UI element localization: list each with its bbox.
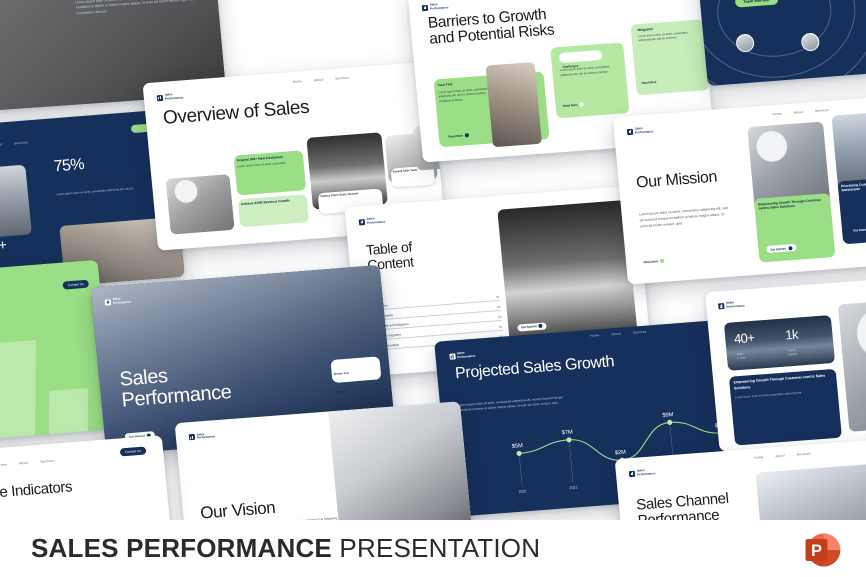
powerpoint-icon-letter: P <box>811 542 822 560</box>
nav-item-about[interactable]: About <box>794 110 804 115</box>
stat-value-1: 40+ <box>733 329 755 345</box>
svg-text:$7M: $7M <box>562 430 574 437</box>
nav-item-services[interactable]: Services <box>633 329 647 334</box>
chart-title: Projected Sales Growth <box>455 355 615 384</box>
card-label: Reduce Churn Every Channel <box>320 191 379 199</box>
stat-sub-1: Sales in Year <box>736 351 745 361</box>
read-more-label: Read More <box>448 133 463 138</box>
read-more-3[interactable]: Read More <box>641 70 657 89</box>
nav-item-about[interactable]: About <box>19 461 29 466</box>
caption-bar: SALES PERFORMANCE PRESENTATION P <box>0 520 866 577</box>
stats-photo-right <box>838 294 866 432</box>
card-body: Lorem ipsum dolor sit amet, consectetur … <box>638 30 691 43</box>
logo-text: SalesPerformance <box>457 351 476 360</box>
logo-mark-icon <box>422 4 429 10</box>
nav-item-home[interactable]: Home <box>754 455 764 460</box>
stat-value-2: 1k <box>785 326 799 342</box>
logo-text: SalesPerformance <box>726 301 745 310</box>
page-title: Sales Performance <box>119 361 233 411</box>
read-more-label: Read More <box>643 259 658 264</box>
slide-nav[interactable]: Home About Services <box>754 451 811 459</box>
page-title: Our Vision <box>200 499 277 520</box>
logo-text: SalesPerformance <box>112 296 131 305</box>
overview-photo-1 <box>166 174 234 234</box>
logo-mark-icon <box>157 94 164 100</box>
slide-our-vision[interactable]: SalesPerformance Our Vision ... leader i… <box>175 401 476 520</box>
caption-light: PRESENTATION <box>339 533 540 563</box>
brand-logo: SalesPerformance <box>359 216 386 225</box>
arrow-dot-icon <box>788 246 792 250</box>
vision-photo <box>328 401 475 520</box>
nav-item-about[interactable]: About <box>611 331 621 336</box>
card-body: Lorem ipsum dolor sit amet, consectetur … <box>438 86 493 104</box>
logo-mark-icon <box>359 219 366 225</box>
card-label: Prioritizing Customer Needs And Satisfac… <box>841 179 866 193</box>
logo-mark-icon <box>189 434 196 440</box>
arrow-dot-icon <box>538 324 542 328</box>
logo-text: SalesPerformance <box>635 126 654 135</box>
toc-number: 04 <box>499 325 503 329</box>
mission-statement-card[interactable]: Empowering Growth Through Customer-centr… <box>729 369 842 446</box>
read-more-label: Read More <box>641 80 656 85</box>
stat-body-1: Lorem ipsum dolor sit amet, consectetur … <box>56 185 150 197</box>
overview-card-1[interactable]: Acquire 500+ New Customers Lorem ipsum d… <box>233 150 306 195</box>
mission-card-green[interactable]: Empowering Growth Through Customer-centr… <box>754 194 835 263</box>
nav-item-services[interactable]: Services <box>797 451 811 456</box>
read-more-2[interactable]: Read More <box>562 93 584 112</box>
brand-logo: SalesPerformance <box>449 351 476 360</box>
logo-mark-icon <box>105 299 112 305</box>
nav-item-home[interactable]: Home <box>772 111 782 116</box>
stat-value-2: 25+ <box>0 237 7 255</box>
bar-2 <box>0 340 36 439</box>
nav-item-about[interactable]: About <box>0 143 2 148</box>
arrow-dot-icon <box>660 259 664 263</box>
logo-text: SalesPerformance <box>367 216 386 225</box>
nav-item-home[interactable]: Home <box>293 80 303 85</box>
slide-our-mission[interactable]: SalesPerformance Home About Services Our… <box>613 95 866 284</box>
nav-item-services[interactable]: Services <box>335 76 349 81</box>
barriers-card-1[interactable]: Your Text Lorem ipsum dolor sit amet, co… <box>433 72 550 148</box>
logo-text: SalesPerformance <box>430 2 449 11</box>
get-started-button[interactable]: Get Started <box>765 236 796 256</box>
stats-card: 40+ Sales in Year 1k Happy Clients <box>724 315 835 371</box>
slide-nav[interactable]: Home About Services <box>590 329 647 337</box>
nav-item-services[interactable]: Services <box>40 459 54 464</box>
stat-sub-2: Happy Clients <box>788 347 797 357</box>
brand-logo: SalesPerformance <box>718 301 745 310</box>
brand-logo: SalesPerformance <box>422 2 449 11</box>
caption-bold: SALES PERFORMANCE <box>31 533 332 563</box>
card-label: Achieve $10M Revenue Growth <box>241 197 304 206</box>
nav-item-home[interactable]: Home <box>0 462 7 467</box>
page-title: Barriers to Growth and Potential Risks <box>427 6 555 48</box>
get-started-button[interactable]: Get Started <box>848 216 866 236</box>
stat-value-1: 75% <box>53 156 85 176</box>
slide-stats-40-1k[interactable]: SalesPerformance 40+ Sales in Year 1k Ha… <box>705 272 866 451</box>
bar-3 <box>49 388 88 435</box>
nav-item-about[interactable]: About <box>314 78 324 83</box>
logo-mark-icon <box>627 128 634 134</box>
card-label: Empowering Growth Through Customer-centr… <box>758 197 827 211</box>
contact-us-button[interactable]: Contact Us <box>63 279 89 289</box>
brand-logo: SalesPerformance <box>627 126 654 135</box>
get-started-label: Get Started <box>853 227 866 232</box>
logo-mark-icon <box>449 353 456 359</box>
page-title: Key Performance Indicators (KPIs) <box>0 479 74 520</box>
brand-logo: SalesPerformance <box>629 468 656 477</box>
svg-text:$5M: $5M <box>512 443 524 450</box>
get-started-label: Get Started <box>521 325 537 330</box>
slide-nav[interactable]: Home About Services <box>0 459 54 467</box>
barriers-card-3[interactable]: Mitigation Lorem ipsum dolor sit amet, c… <box>630 19 709 96</box>
toc-number: 03 <box>498 315 502 319</box>
barriers-card-2[interactable]: Challenges Lorem ipsum dolor sit amet, c… <box>550 42 629 119</box>
caption-text: SALES PERFORMANCE PRESENTATION <box>31 533 540 564</box>
slide-nav[interactable]: Home About Services <box>772 108 829 116</box>
svg-text:$9M: $9M <box>662 412 674 419</box>
page-title: Our Mission <box>636 170 718 193</box>
card-label-chip: Challenges <box>558 50 603 63</box>
nav-item-home[interactable]: Home <box>590 333 600 338</box>
mission-card-navy[interactable]: Prioritizing Customer Needs And Satisfac… <box>837 176 866 245</box>
channel-photo <box>756 462 866 520</box>
nav-item-services[interactable]: Services <box>14 141 28 146</box>
phone-photo <box>485 62 541 148</box>
overview-card-2[interactable]: Achieve $10M Revenue Growth <box>237 194 309 228</box>
arrow-dot-icon <box>580 103 584 107</box>
hero-tag: Elevate Your Practice <box>330 356 381 383</box>
brand-logo: SalesPerformance <box>189 432 216 441</box>
get-started-label: Get Started <box>770 246 786 251</box>
logo-mark-icon <box>629 470 636 476</box>
logo-text: SalesPerformance <box>196 432 215 441</box>
svg-text:$2M: $2M <box>615 450 627 457</box>
contact-us-button[interactable]: Contact Us <box>120 446 146 456</box>
nav-item-services[interactable]: Services <box>815 108 829 113</box>
read-more-button[interactable]: Read More <box>642 249 664 268</box>
toc-number: 01 <box>496 295 500 299</box>
logo-text: SalesPerformance <box>164 92 183 101</box>
read-more-1[interactable]: Read More <box>447 123 469 142</box>
page-number: 7 <box>172 267 174 271</box>
logo-text: SalesPerformance <box>637 468 656 477</box>
brand-logo: SalesPerformance <box>157 92 184 101</box>
svg-text:2021: 2021 <box>519 490 527 495</box>
slide-collage: Welcome to Sales Performance Lorem ipsum… <box>0 0 866 520</box>
toc-number: 02 <box>497 305 501 309</box>
slide-nav[interactable]: Home About Services <box>0 141 28 149</box>
nav-item-about[interactable]: About <box>775 453 785 458</box>
page-title: Sales Channel Performance <box>636 491 731 520</box>
read-more-label: Read More <box>563 103 578 108</box>
slide-team-member[interactable]: Team Member 100 Happy Clients <box>693 0 866 86</box>
get-started-button[interactable]: Get Started <box>516 314 547 334</box>
logo-mark-icon <box>718 303 725 309</box>
page-title: Overview of Sales <box>162 98 310 129</box>
body-text: Lorem ipsum dolor sit amet, consectetur … <box>639 206 733 230</box>
slide-key-performance-indicators[interactable]: Home About Services Contact Us Key Perfo… <box>0 435 178 520</box>
arrow-dot-icon <box>465 133 469 137</box>
powerpoint-icon: P <box>800 528 844 572</box>
slide-nav[interactable]: Home About Services <box>293 76 350 84</box>
svg-text:2022: 2022 <box>569 486 577 491</box>
